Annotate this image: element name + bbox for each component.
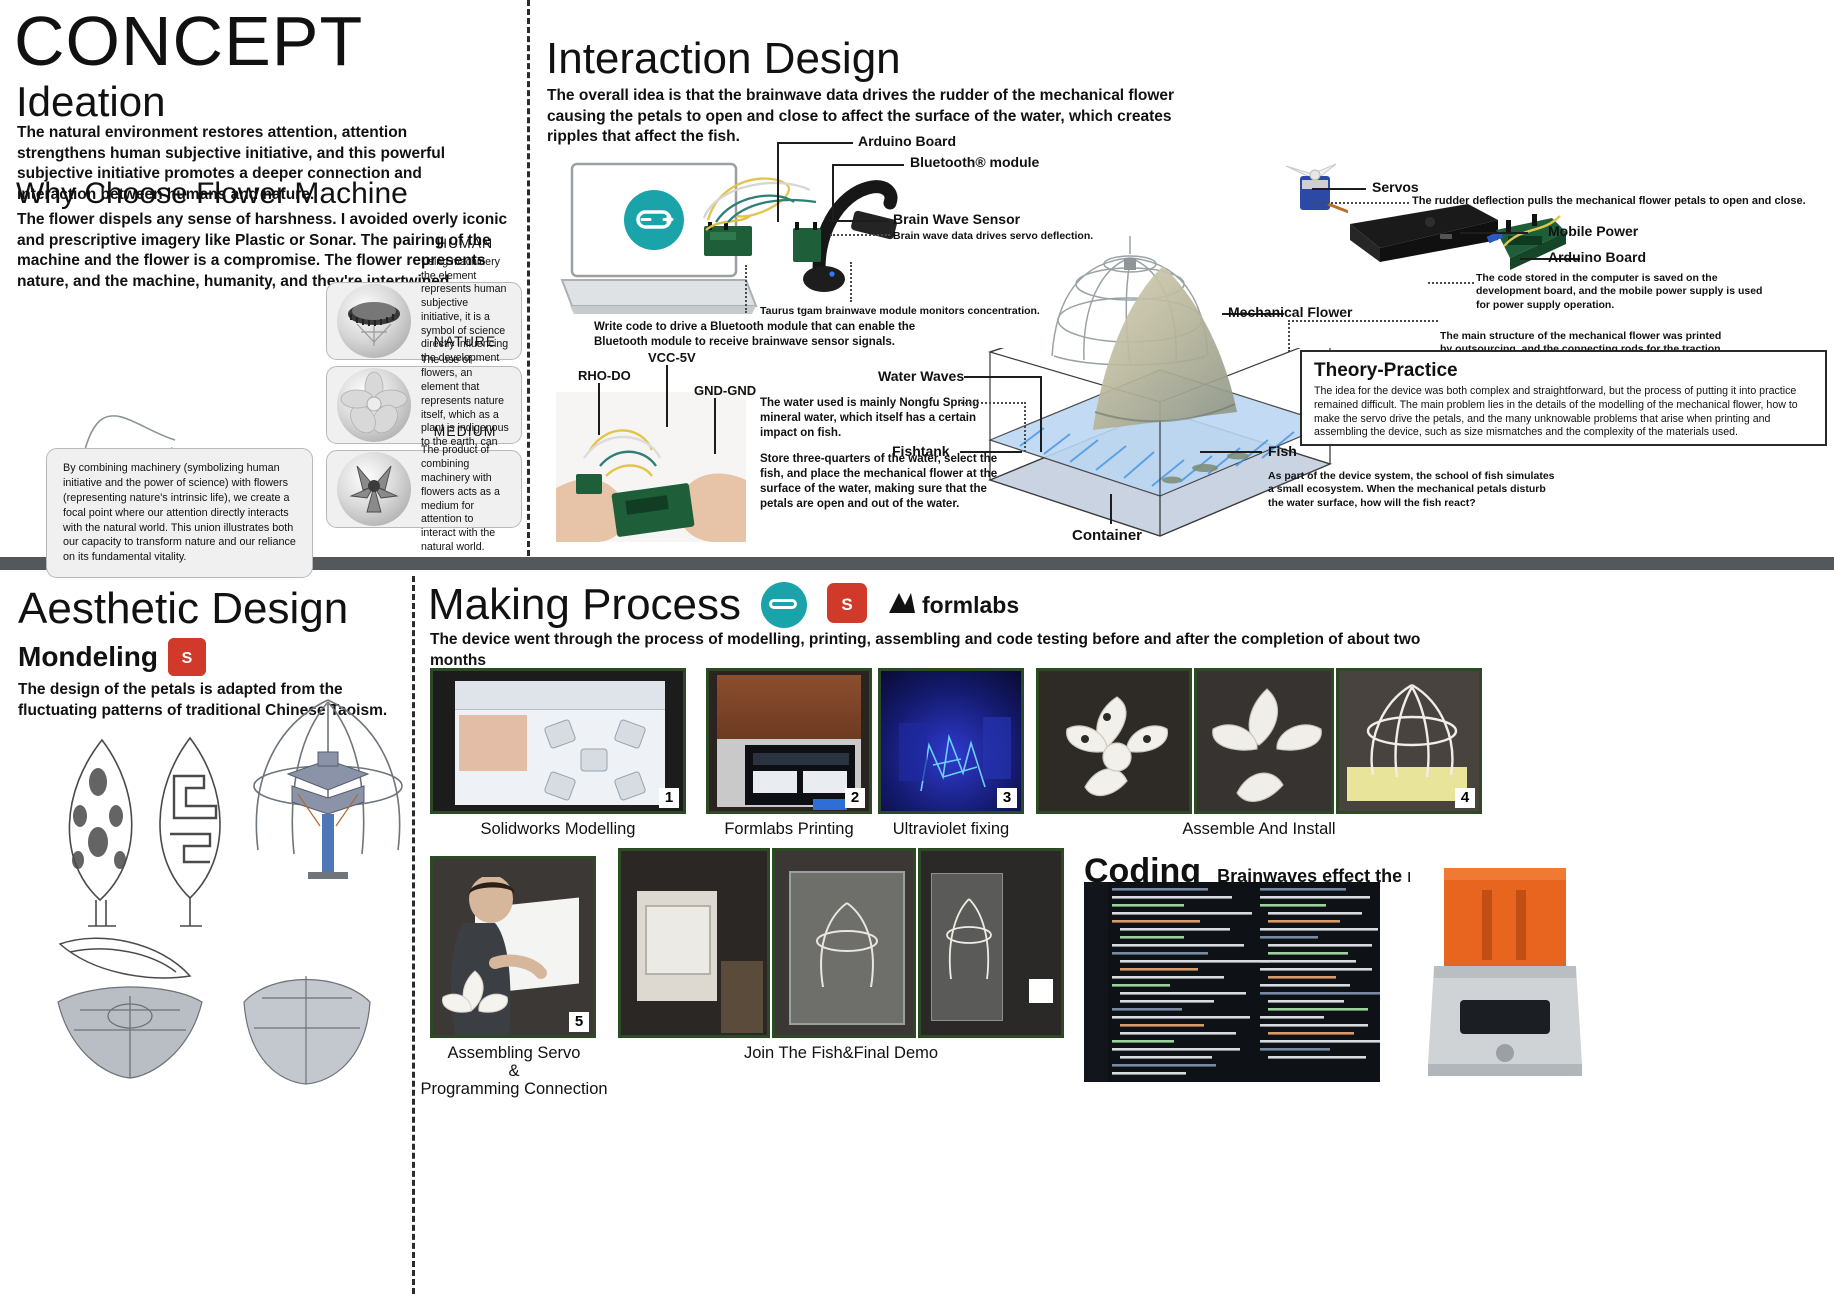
caption-step-2: Formlabs Printing [696, 820, 882, 839]
photo-assemble-install-c: 4 [1336, 668, 1482, 814]
making-body: The device went through the process of m… [430, 630, 1430, 671]
leader-container-v [1110, 494, 1112, 524]
ideation-heading: Ideation [16, 80, 165, 124]
leader-vcc-v [666, 365, 668, 427]
label-servos: Servos [1372, 179, 1419, 195]
label-gnd-gnd: GND-GND [694, 383, 756, 398]
step-number: 4 [1455, 788, 1475, 808]
making-heading: Making Process [428, 582, 741, 628]
label-vcc-5v: VCC-5V [648, 350, 696, 365]
label-water-waves: Water Waves [878, 368, 964, 384]
photo-assemble-install-a [1036, 668, 1192, 814]
photo-demo-2 [772, 848, 916, 1038]
note-taurus-module: Taurus tgam brainwave module monitors co… [760, 305, 1060, 318]
caption-step-1: Solidworks Modelling [430, 820, 686, 839]
caption-step-3: Ultraviolet fixing [868, 820, 1034, 839]
photo-ultraviolet-fixing: 3 [878, 668, 1024, 814]
card-title: HUMAN [421, 235, 509, 251]
theory-practice-title: Theory-Practice [1314, 360, 1813, 382]
note-fish-ecosystem: As part of the device system, the school… [1268, 470, 1558, 510]
leader-fish [1200, 451, 1262, 453]
leader-mobile-power [1460, 232, 1528, 234]
dotted-code [1428, 282, 1474, 284]
leader-servos [1312, 188, 1366, 190]
caption-step-5-line1: Assembling Servo [406, 1044, 622, 1063]
label-arduino-board-2: Arduino Board [1548, 249, 1646, 265]
photo-assemble-install-b [1194, 668, 1334, 814]
modelling-heading-row: Mondeling S [18, 638, 206, 676]
why-heading: Why Choose Flower Machine [16, 178, 408, 210]
leader-bluetooth [832, 164, 904, 166]
servo-illustration [1278, 152, 1348, 232]
step-number: 2 [845, 788, 865, 808]
label-rho-do: RHO-DO [578, 368, 631, 383]
label-brain-wave-sensor: Brain Wave Sensor [893, 211, 1020, 227]
svg-text:S: S [182, 650, 193, 667]
label-mechanical-flower: Mechanical Flower [1228, 304, 1352, 320]
label-container: Container [1072, 527, 1142, 544]
flower-icon [337, 368, 411, 442]
formlabs-wordmark: formlabs [922, 592, 1019, 619]
flower-in-water-illustration [1085, 262, 1245, 452]
label-arduino-board: Arduino Board [858, 133, 956, 149]
leader-water-waves [964, 376, 1042, 378]
step-number: 5 [569, 1012, 589, 1032]
code-gutter [1084, 882, 1108, 1082]
solidworks-logo-icon-2: S [827, 583, 867, 628]
aesthetic-heading: Aesthetic Design [18, 586, 348, 632]
card-body: The product of combining machinery with … [421, 444, 509, 554]
caption-demo: Join The Fish&Final Demo [618, 1044, 1064, 1063]
divider-vertical-bottom [412, 576, 415, 1294]
card-title: NATURE [421, 333, 509, 349]
leader-rho-do-v [598, 383, 600, 435]
label-fish: Fish [1268, 443, 1297, 459]
label-mobile-power: Mobile Power [1548, 223, 1638, 239]
leader-bluetooth-v [832, 164, 834, 222]
interaction-heading: Interaction Design [546, 36, 901, 82]
card-title: MEDIUM [421, 423, 509, 439]
arduino-logo-icon [761, 582, 807, 628]
dotted-flower-structure-h [1288, 320, 1438, 322]
caption-step-5-line3: Programming Connection [406, 1080, 622, 1099]
machine-flower-icon [337, 452, 411, 526]
dotted-sensor [830, 234, 890, 236]
svg-text:S: S [841, 595, 852, 614]
code-screenshot [1084, 882, 1380, 1082]
arduino-board-right-illustration [1486, 200, 1576, 280]
theory-practice-body: The idea for the device was both complex… [1314, 385, 1813, 440]
page-title: CONCEPT [14, 6, 363, 76]
leader-arduino-board [777, 142, 853, 144]
dotted-laptop [745, 265, 747, 313]
dotted-rudder [1314, 202, 1409, 204]
dotted-water [958, 402, 1026, 404]
step-number: 1 [659, 788, 679, 808]
leader-brainwave-sensor [828, 220, 888, 222]
note-bluetooth-code: Write code to drive a Bluetooth module t… [594, 320, 944, 350]
leader-water-waves-v [1040, 376, 1042, 452]
photo-solidworks-modelling: 1 [430, 668, 686, 814]
leader-arduino-board-v [777, 142, 779, 222]
formlabs-logo-icon: formlabs [887, 591, 1019, 619]
photo-formlabs-printing: 2 [706, 668, 872, 814]
dotted-water-v [1024, 402, 1026, 452]
divider-vertical-top [527, 0, 530, 556]
note-water-source: The water used is mainly Nongfu Spring m… [760, 396, 990, 441]
theory-practice-box: Theory-Practice The idea for the device … [1300, 350, 1827, 446]
label-bluetooth-module: Bluetooth® module [910, 154, 1039, 170]
making-heading-row: Making Process S formlabs [428, 582, 1019, 628]
note-store-water: Store three-quarters of the water, selec… [760, 452, 1006, 512]
caption-step-5-line2: & [406, 1062, 622, 1081]
wiring-illustration-top [690, 168, 920, 268]
concept-quote-box: By combining machinery (symbolizing huma… [46, 448, 313, 578]
flower-3d-model-illustration [232, 690, 422, 910]
photo-demo-3 [918, 848, 1064, 1038]
modelling-heading: Mondeling [18, 642, 158, 671]
photo-assembling-servo: 5 [430, 856, 596, 1038]
breadboard-hands-photo [556, 392, 746, 542]
photo-demo-1 [618, 848, 770, 1038]
gear-machine-icon [337, 284, 411, 358]
solidworks-logo-icon: S [168, 638, 206, 676]
poster-root: CONCEPT Ideation The natural environment… [0, 0, 1834, 1294]
note-code-storage: The code stored in the computer is saved… [1476, 272, 1776, 312]
dotted-taurus [850, 262, 852, 302]
concept-card-medium: MEDIUM The product of combining machiner… [326, 450, 522, 528]
caption-step-4: Assemble And Install [1036, 820, 1482, 839]
leader-gnd-v [714, 398, 716, 454]
step-number: 3 [997, 788, 1017, 808]
formlabs-printer-illustration [1410, 850, 1600, 1082]
note-rudder-deflection: The rudder deflection pulls the mechanic… [1412, 194, 1832, 208]
